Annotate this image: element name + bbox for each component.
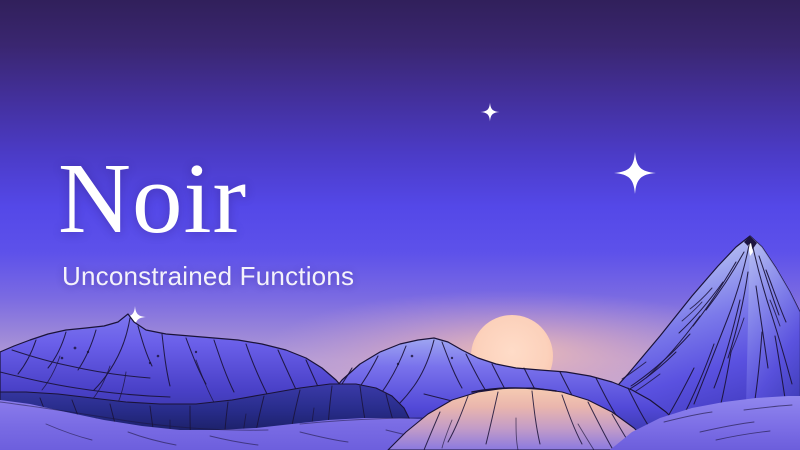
landscape-illustration: [0, 0, 800, 450]
title-slide: Noir Unconstrained Functions: [0, 0, 800, 450]
